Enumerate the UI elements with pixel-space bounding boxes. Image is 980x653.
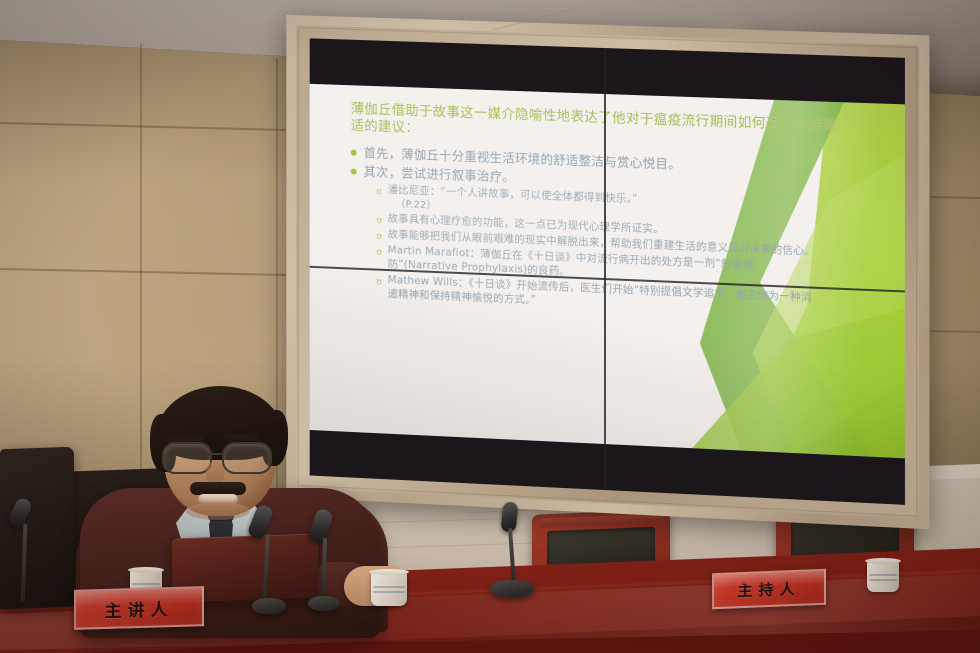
bullet-sub-icon: ʊ bbox=[376, 216, 381, 226]
slide-title: 薄伽丘借助于故事这一媒介隐喻性地表达了他对于瘟疫流行期间如何进行心理调适的建议： bbox=[351, 101, 850, 153]
paper-cup bbox=[867, 561, 899, 592]
paper-cup bbox=[371, 572, 407, 606]
bullet-sub-icon: ʊ bbox=[376, 232, 381, 242]
chair-left bbox=[0, 447, 74, 610]
lecture-hall-photo: 薄伽丘借助于故事这一媒介隐喻性地表达了他对于瘟疫流行期间如何进行心理调适的建议：… bbox=[0, 0, 980, 653]
nameplate-speaker: 主讲人 bbox=[74, 586, 204, 630]
bullet-sub-icon: ʊ bbox=[376, 187, 381, 197]
nameplate-host: 主持人 bbox=[712, 569, 826, 609]
video-wall: 薄伽丘借助于故事这一媒介隐喻性地表达了他对于瘟疫流行期间如何进行心理调适的建议：… bbox=[310, 38, 905, 505]
bullet-dot-icon bbox=[351, 149, 357, 155]
bullet-sub-icon: ʊ bbox=[376, 248, 381, 258]
bullet-sub-icon: ʊ bbox=[376, 277, 381, 287]
slide-bullet-text: 其次，尝试进行叙事治疗。 bbox=[364, 164, 516, 186]
bullet-dot-icon bbox=[351, 168, 357, 174]
presenter-nose bbox=[206, 462, 224, 484]
videowall-seam bbox=[604, 48, 606, 490]
presenter-chin bbox=[186, 502, 250, 520]
